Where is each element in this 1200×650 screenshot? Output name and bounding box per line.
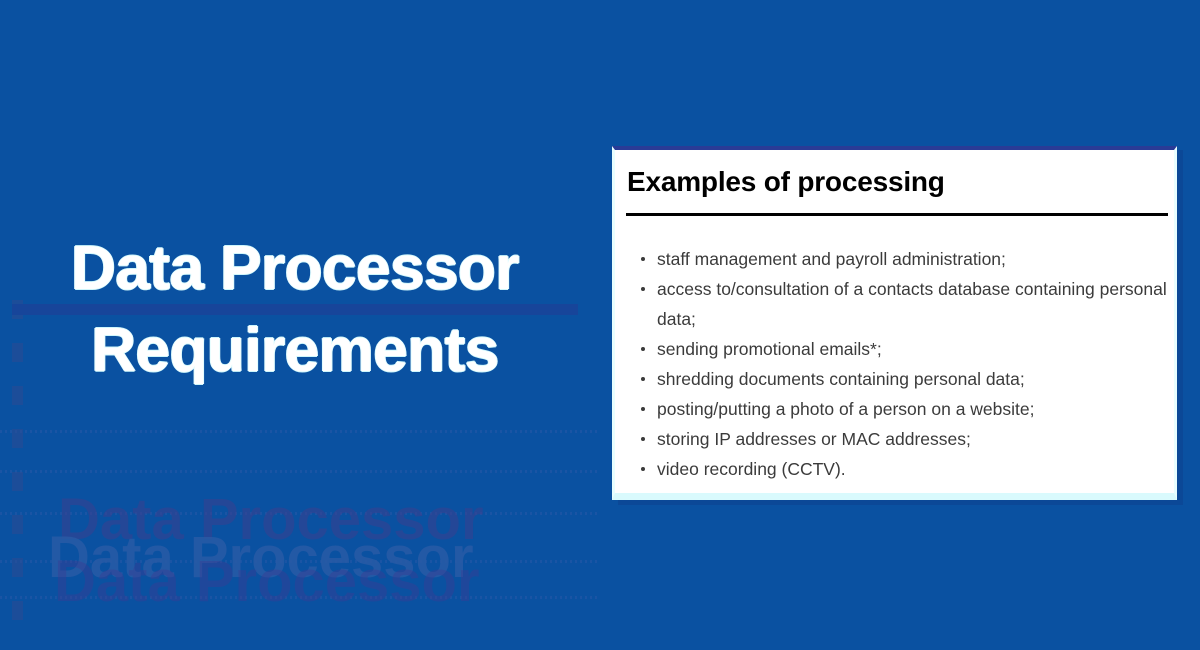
list-item: storing IP addresses or MAC addresses; (629, 424, 1167, 454)
slide-title-line-2: Requirements (0, 310, 590, 392)
slide-title: Data Processor Requirements (0, 228, 590, 393)
examples-panel-inner: Examples of processing staff management … (615, 150, 1174, 493)
list-item: access to/consultation of a contacts dat… (629, 274, 1167, 334)
list-item: posting/putting a photo of a person on a… (629, 394, 1167, 424)
panel-heading-rule (626, 213, 1168, 216)
examples-panel: Examples of processing staff management … (612, 146, 1177, 500)
artifact-scanline (0, 596, 600, 599)
artifact-scanline (0, 430, 600, 433)
list-item: shredding documents containing personal … (629, 364, 1167, 394)
slide-canvas: Data Processor Data Processor Data Proce… (0, 0, 1200, 650)
artifact-scanline (0, 470, 600, 473)
slide-title-line-1: Data Processor (0, 228, 590, 310)
artifact-ghost-title: Data Processor (48, 524, 474, 591)
artifact-ghost-title: Data Processor (58, 486, 484, 553)
list-item: video recording (CCTV). (629, 454, 1167, 484)
artifact-scanline (0, 560, 600, 563)
artifact-scanline (0, 512, 600, 515)
artifact-ghost-title: Data Processor (54, 548, 480, 615)
examples-list: staff management and payroll administrat… (629, 244, 1167, 484)
list-item: sending promotional emails*; (629, 334, 1167, 364)
list-item: staff management and payroll administrat… (629, 244, 1167, 274)
panel-heading: Examples of processing (627, 166, 945, 198)
